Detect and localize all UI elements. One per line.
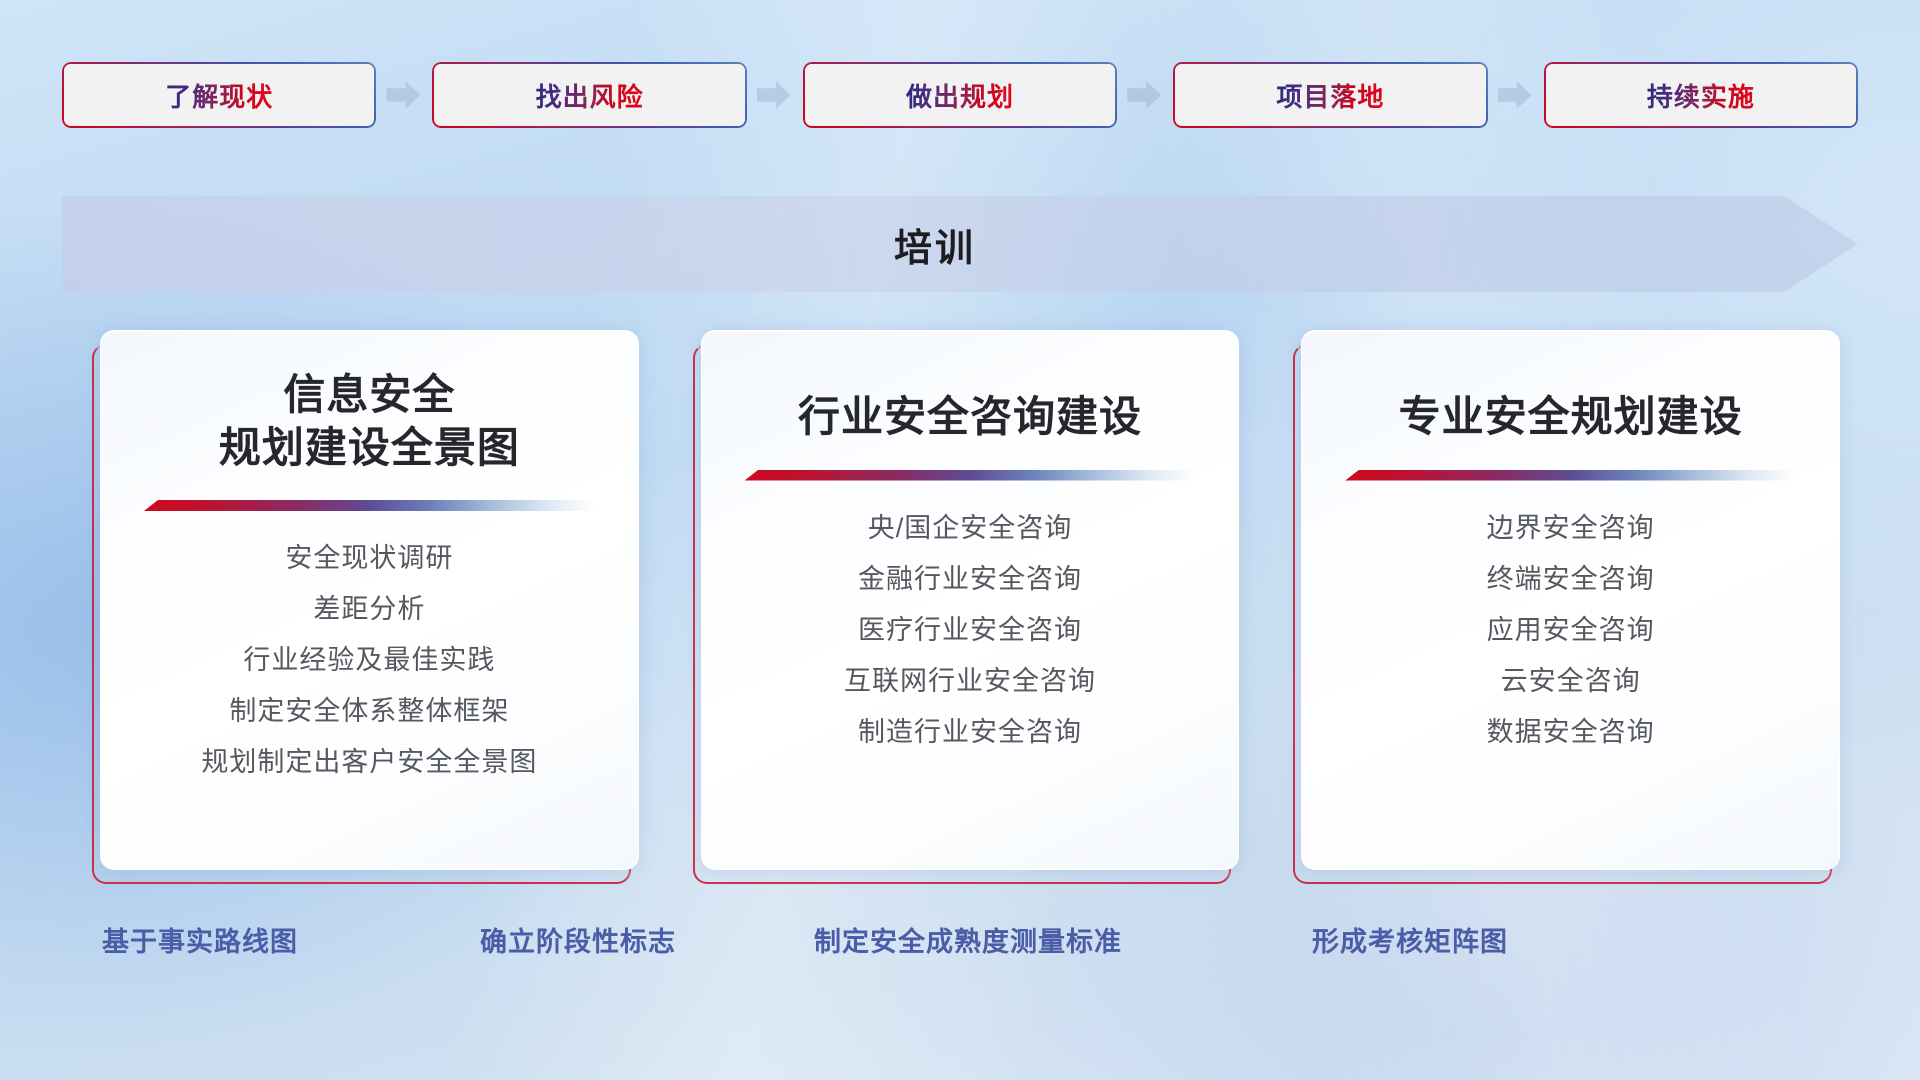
card-item-list: 央/国企安全咨询 金融行业安全咨询 医疗行业安全咨询 互联网行业安全咨询 制造行… bbox=[702, 511, 1239, 750]
step-label-1: 了解现状 bbox=[165, 77, 273, 114]
card-divider-bar bbox=[745, 470, 1196, 481]
card-wrap-3: 专业安全规划建设 边界安全咨询 终端安全咨询 应用安全咨询 云安全咨询 数据安全… bbox=[1301, 330, 1840, 870]
caption-2: 确立阶段性标志 bbox=[480, 920, 676, 959]
step-arrow-2 bbox=[747, 75, 803, 115]
slide-canvas: 了解现状 找出风险 做出规划 项目落地 持续实施 bbox=[0, 0, 1920, 1080]
list-item: 规划制定出客户安全全景图 bbox=[201, 745, 537, 780]
card-title: 行业安全咨询建设 bbox=[798, 391, 1142, 444]
list-item: 终端安全咨询 bbox=[1487, 562, 1655, 597]
caption-4: 形成考核矩阵图 bbox=[1312, 920, 1508, 959]
list-item: 应用安全咨询 bbox=[1487, 613, 1655, 648]
step-arrow-3 bbox=[1117, 75, 1173, 115]
card-professional-security-planning[interactable]: 专业安全规划建设 边界安全咨询 终端安全咨询 应用安全咨询 云安全咨询 数据安全… bbox=[1301, 330, 1840, 870]
step-box-2[interactable]: 找出风险 bbox=[432, 62, 746, 128]
step-label-4: 项目落地 bbox=[1276, 77, 1384, 114]
list-item: 差距分析 bbox=[313, 592, 425, 627]
card-divider-bar bbox=[144, 500, 595, 511]
card-industry-security-consulting[interactable]: 行业安全咨询建设 央/国企安全咨询 金融行业安全咨询 医疗行业安全咨询 互联网行… bbox=[701, 330, 1240, 870]
step-label-3: 做出规划 bbox=[906, 77, 1014, 114]
list-item: 边界安全咨询 bbox=[1487, 511, 1655, 546]
step-arrow-4 bbox=[1488, 75, 1544, 115]
card-wrap-1: 信息安全 规划建设全景图 安全现状调研 差距分析 行业经验及最佳实践 制定安全体… bbox=[100, 330, 639, 870]
card-title: 信息安全 规划建设全景图 bbox=[219, 369, 520, 474]
card-divider bbox=[144, 500, 595, 511]
list-item: 制定安全体系整体框架 bbox=[229, 694, 509, 729]
card-wrap-2: 行业安全咨询建设 央/国企安全咨询 金融行业安全咨询 医疗行业安全咨询 互联网行… bbox=[701, 330, 1240, 870]
card-divider bbox=[1345, 470, 1796, 481]
list-item: 互联网行业安全咨询 bbox=[844, 664, 1096, 699]
list-item: 行业经验及最佳实践 bbox=[243, 643, 495, 678]
list-item: 制造行业安全咨询 bbox=[858, 715, 1082, 750]
list-item: 医疗行业安全咨询 bbox=[858, 613, 1082, 648]
card-divider bbox=[745, 470, 1196, 481]
step-box-5[interactable]: 持续实施 bbox=[1544, 62, 1858, 128]
arrow-right-icon bbox=[1127, 81, 1161, 109]
list-item: 央/国企安全咨询 bbox=[868, 511, 1073, 546]
card-item-list: 安全现状调研 差距分析 行业经验及最佳实践 制定安全体系整体框架 规划制定出客户… bbox=[101, 541, 638, 780]
caption-1: 基于事实路线图 bbox=[102, 920, 298, 959]
caption-3: 制定安全成熟度测量标准 bbox=[814, 920, 1122, 959]
card-title: 专业安全规划建设 bbox=[1399, 391, 1743, 444]
list-item: 安全现状调研 bbox=[285, 541, 453, 576]
step-label-5: 持续实施 bbox=[1647, 77, 1755, 114]
training-banner: 培训 bbox=[62, 196, 1858, 292]
list-item: 云安全咨询 bbox=[1501, 664, 1641, 699]
list-item: 数据安全咨询 bbox=[1487, 715, 1655, 750]
list-item: 金融行业安全咨询 bbox=[858, 562, 1082, 597]
step-box-1[interactable]: 了解现状 bbox=[62, 62, 376, 128]
arrow-right-icon bbox=[757, 81, 791, 109]
process-step-row: 了解现状 找出风险 做出规划 项目落地 持续实施 bbox=[62, 62, 1858, 128]
card-divider-bar bbox=[1345, 470, 1796, 481]
card-info-security-panorama[interactable]: 信息安全 规划建设全景图 安全现状调研 差距分析 行业经验及最佳实践 制定安全体… bbox=[100, 330, 639, 870]
caption-row: 基于事实路线图 确立阶段性标志 制定安全成熟度测量标准 形成考核矩阵图 bbox=[0, 920, 1920, 970]
arrow-right-icon bbox=[1498, 81, 1532, 109]
training-banner-label: 培训 bbox=[894, 217, 976, 272]
step-label-2: 找出风险 bbox=[536, 77, 644, 114]
step-box-4[interactable]: 项目落地 bbox=[1173, 62, 1487, 128]
step-arrow-1 bbox=[376, 75, 432, 115]
card-item-list: 边界安全咨询 终端安全咨询 应用安全咨询 云安全咨询 数据安全咨询 bbox=[1302, 511, 1839, 750]
arrow-right-icon bbox=[386, 81, 420, 109]
step-box-3[interactable]: 做出规划 bbox=[803, 62, 1117, 128]
card-row: 信息安全 规划建设全景图 安全现状调研 差距分析 行业经验及最佳实践 制定安全体… bbox=[100, 330, 1840, 870]
